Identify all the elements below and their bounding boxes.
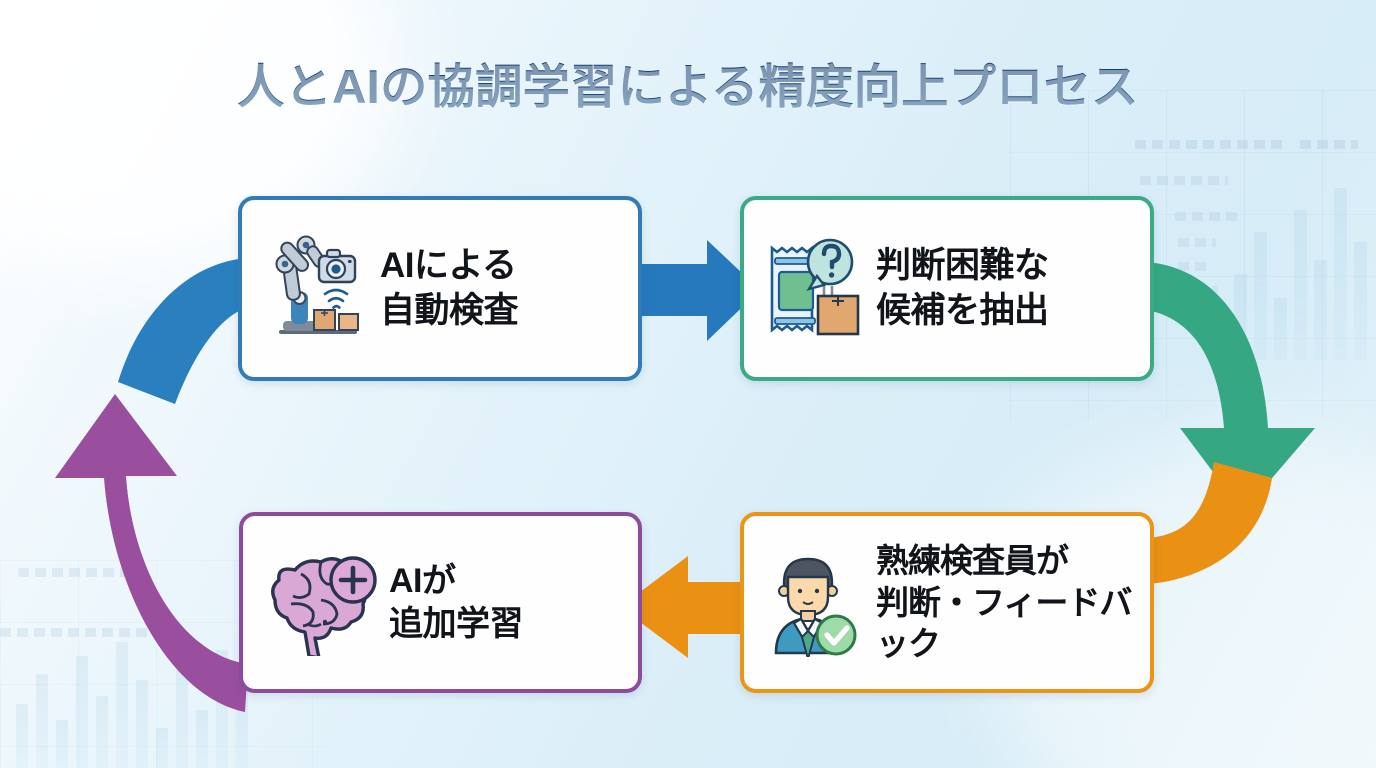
process-step-ai-auto-inspection[interactable]: AIによる 自動検査 (238, 196, 642, 381)
robot-arm-camera-icon (260, 233, 370, 345)
process-step-ai-additional-learning[interactable]: AIが 追加学習 (239, 512, 642, 693)
process-step-expert-judgement-feedback[interactable]: 熟練検査員が 判断・フィードバック (740, 512, 1154, 693)
arrow-4-to-1 (55, 394, 248, 712)
process-step-label: 熟練検査員が 判断・フィードバック (876, 540, 1136, 665)
package-question-icon (762, 233, 866, 345)
arrow-tail-orange-right (1149, 462, 1272, 584)
inspector-check-icon (762, 547, 866, 659)
arrow-tail-blue-left (118, 258, 252, 404)
process-step-label: AIによる 自動検査 (380, 244, 518, 332)
page-title: 人とAIの協調学習による精度向上プロセス (0, 48, 1376, 117)
process-step-label: AIが 追加学習 (389, 560, 523, 646)
process-step-extract-difficult-candidates[interactable]: 判断困難な 候補を抽出 (740, 196, 1154, 381)
process-step-label: 判断困難な 候補を抽出 (876, 244, 1049, 332)
brain-plus-icon (261, 547, 379, 659)
diagram-canvas: AIによる 自動検査 判断困難な 候補を抽出 (0, 0, 1376, 768)
